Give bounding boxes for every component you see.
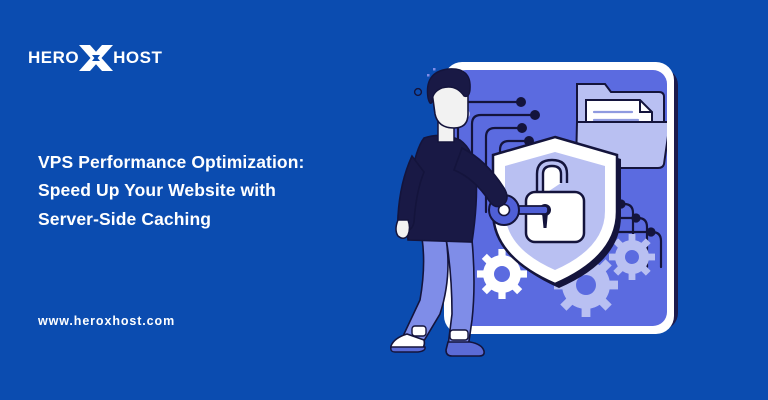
headline: VPS Performance Optimization: Speed Up Y… bbox=[38, 148, 348, 233]
headline-line-3: Server-Side Caching bbox=[38, 205, 348, 233]
brand-logo[interactable]: HERO HOST bbox=[28, 38, 162, 78]
headline-line-1: VPS Performance Optimization: bbox=[38, 148, 348, 176]
logo-text-hero: HERO bbox=[28, 48, 79, 68]
headline-line-2: Speed Up Your Website with bbox=[38, 176, 348, 204]
decorative-circle-icon bbox=[415, 89, 422, 96]
logo-text-host: HOST bbox=[113, 48, 162, 68]
security-unlock-illustration bbox=[380, 52, 700, 364]
promo-banner: HERO HOST VPS Performance Optimization: … bbox=[0, 0, 768, 400]
website-url[interactable]: www.heroxhost.com bbox=[38, 314, 175, 328]
gear-right-icon bbox=[609, 234, 655, 280]
x-mark-icon bbox=[76, 38, 116, 78]
